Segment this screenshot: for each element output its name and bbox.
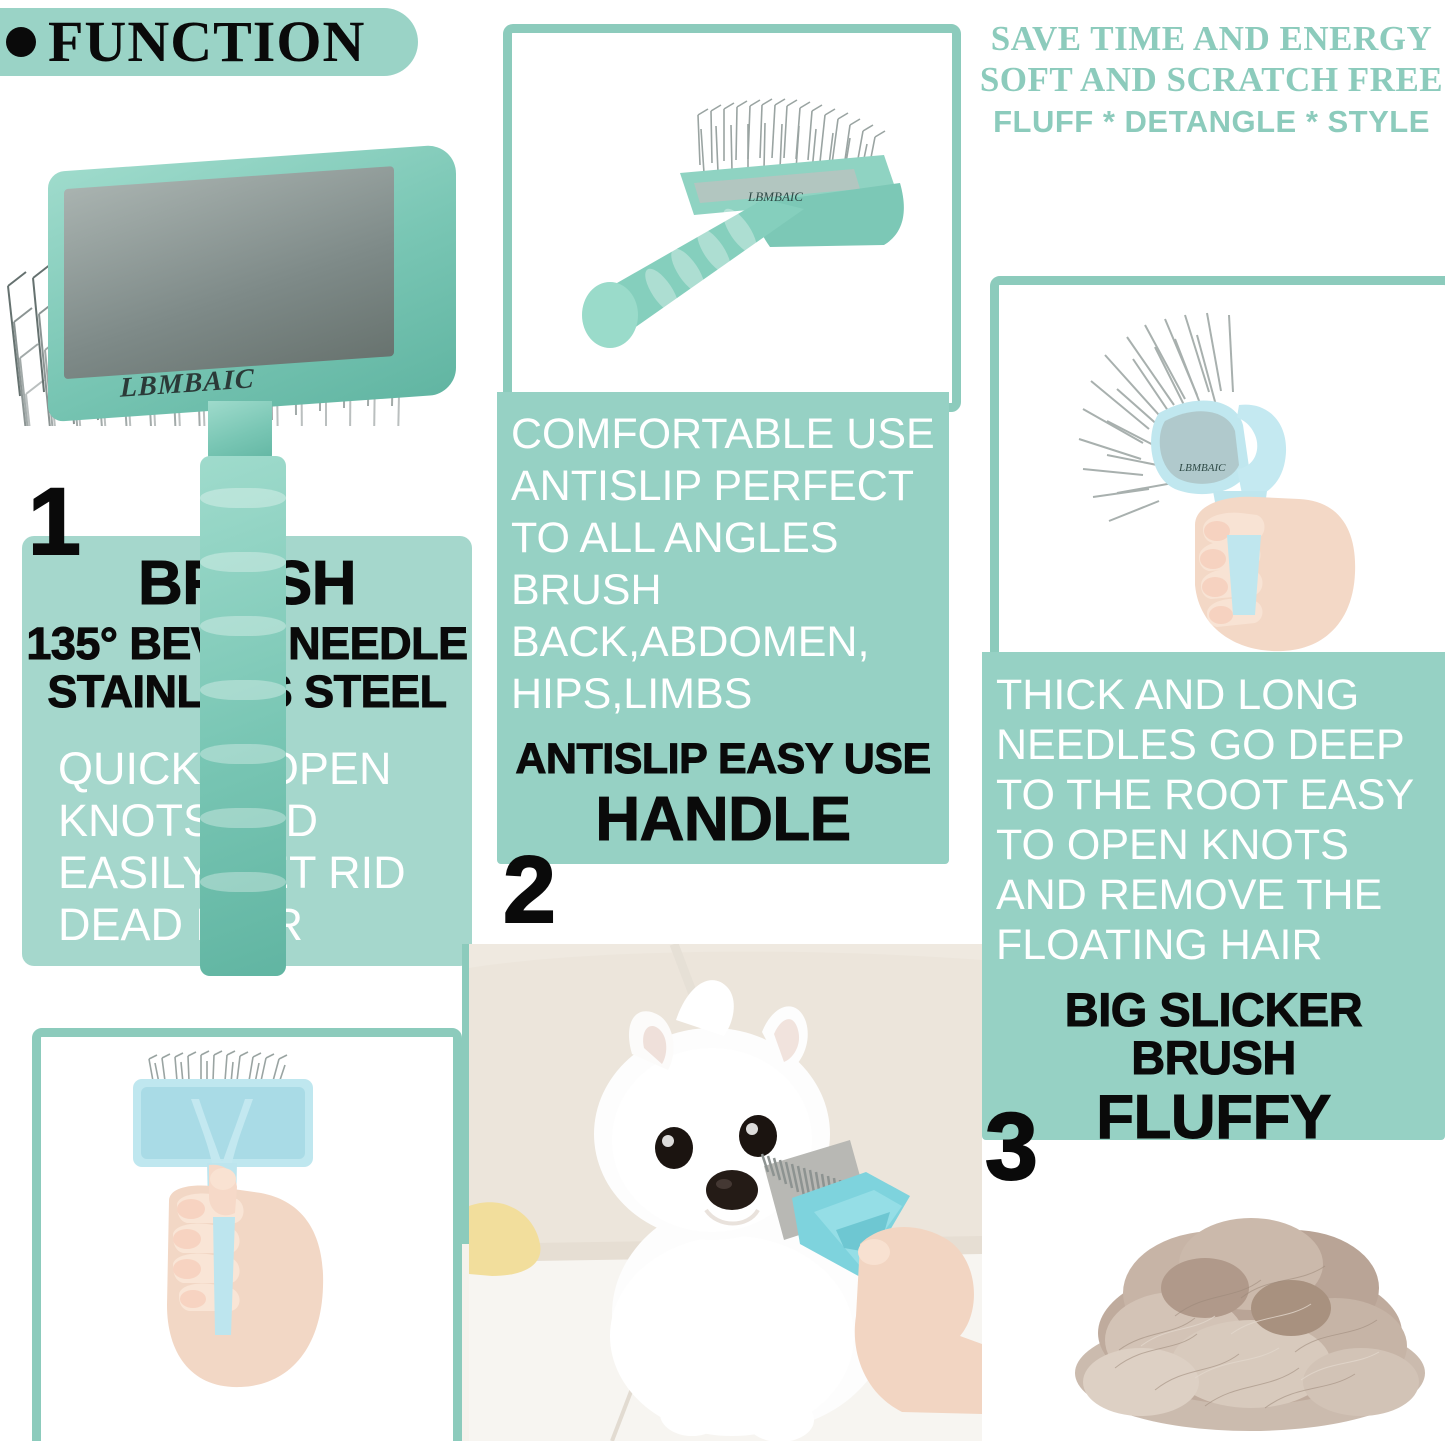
photo-brush-side-view: LBMBAIC	[503, 24, 961, 412]
tagline-line-2: SOFT AND SCRATCH FREE	[978, 59, 1445, 100]
page-title: FUNCTION	[48, 13, 365, 71]
step-number-1: 1	[28, 475, 81, 570]
panel2-body-text: COMFORTABLE USE ANTISLIP PERFECT TO ALL …	[511, 408, 951, 720]
tagline-line-3: FLUFF * DETANGLE * STYLE	[978, 102, 1445, 142]
panel3-title: FLUFFY	[982, 1086, 1445, 1149]
infographic-canvas: LBMBAIC FUNCTION SAVE TIME AND ENERGY SO…	[0, 0, 1445, 1441]
panel-handle: COMFORTABLE USE ANTISLIP PERFECT TO ALL …	[497, 392, 949, 864]
brush-handle-shaft	[200, 456, 286, 976]
panel2-subtitle: ANTISLIP EASY USE	[497, 738, 949, 782]
photo-removed-fur-pile	[1055, 1168, 1445, 1441]
panel3-subtitle: BIG SLICKER BRUSH	[982, 986, 1445, 1082]
step-number-3: 3	[985, 1100, 1038, 1195]
tagline-block: SAVE TIME AND ENERGY SOFT AND SCRATCH FR…	[978, 18, 1445, 142]
tagline-line-1: SAVE TIME AND ENERGY	[978, 18, 1445, 59]
photo-dog-being-brushed	[462, 944, 982, 1441]
panel-fluffy: THICK AND LONG NEEDLES GO DEEP TO THE RO…	[982, 652, 1445, 1140]
panel2-title: HANDLE	[497, 788, 949, 851]
svg-text:LBMBAIC: LBMBAIC	[1178, 462, 1226, 474]
photo-hand-holding-brush: LBMBAIC	[990, 276, 1445, 674]
photo-hand-holding-brush-front	[32, 1028, 462, 1441]
brush-neck	[208, 401, 272, 463]
brush-pin-pad	[64, 166, 394, 379]
bullet-dot-icon	[6, 27, 36, 57]
panel3-body-text: THICK AND LONG NEEDLES GO DEEP TO THE RO…	[996, 670, 1445, 970]
function-header-badge: FUNCTION	[0, 8, 418, 76]
svg-text:LBMBAIC: LBMBAIC	[747, 189, 803, 204]
step-number-2: 2	[503, 843, 556, 938]
